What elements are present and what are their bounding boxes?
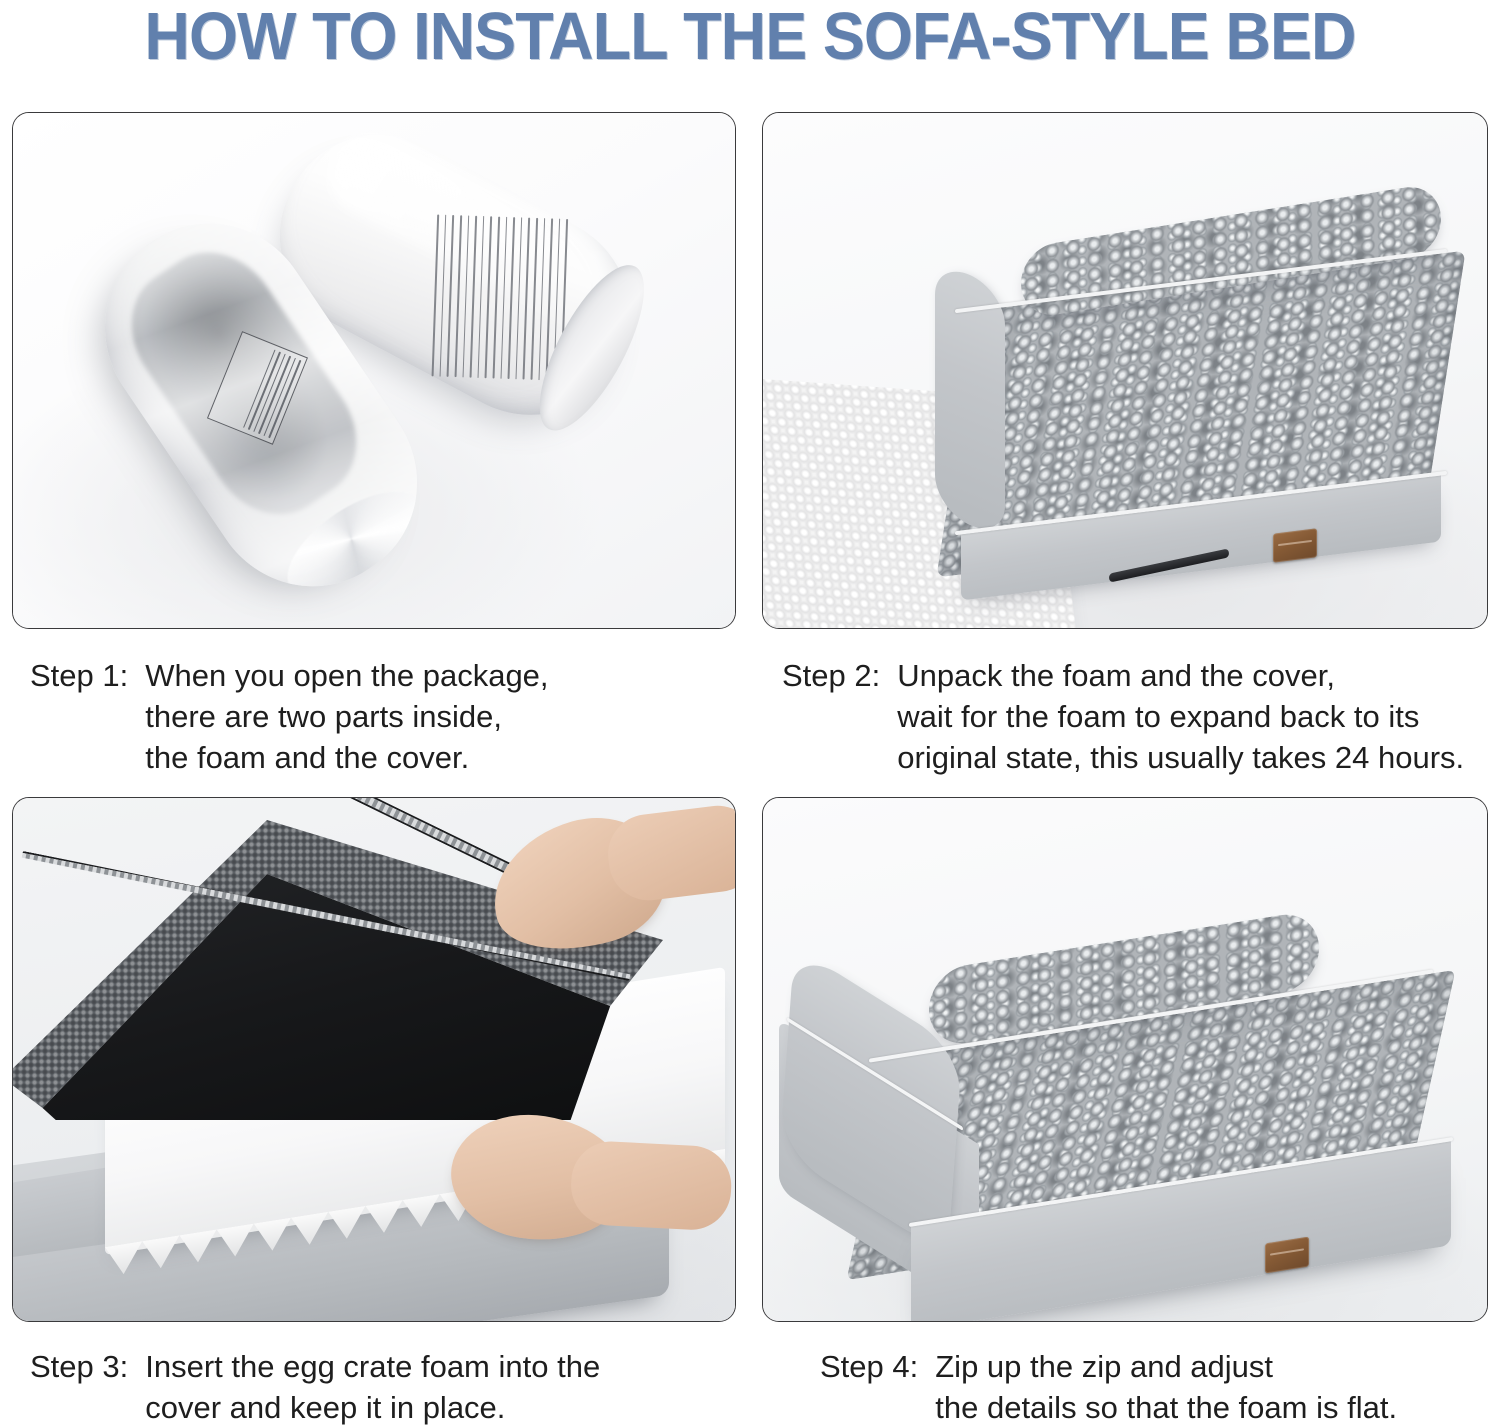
assembled-bed xyxy=(779,922,1469,1302)
step-1-label: Step 1: xyxy=(30,655,128,696)
instruction-sheet: Step 1: When you open the package, there… xyxy=(0,0,1500,1422)
step-3-text: Insert the egg crate foam into the cover… xyxy=(145,1346,600,1428)
leather-brand-tag xyxy=(1273,528,1317,562)
step-2-label: Step 2: xyxy=(782,655,880,696)
warning-print-block xyxy=(426,214,568,381)
step-2-caption: Step 2: Unpack the foam and the cover, w… xyxy=(782,655,1464,779)
photo-packaged-rolls xyxy=(13,113,735,628)
step-3-label: Step 3: xyxy=(30,1346,128,1387)
photo-inserting-foam xyxy=(13,798,735,1321)
bolster-left xyxy=(935,259,1005,540)
step-2-image-panel xyxy=(762,112,1488,629)
step-4-image-panel xyxy=(762,797,1488,1322)
bed-cover xyxy=(933,209,1463,609)
step-2-text: Unpack the foam and the cover, wait for … xyxy=(897,655,1464,779)
forearm xyxy=(569,1140,733,1232)
step-4-label: Step 4: xyxy=(820,1346,918,1387)
step-1-text: When you open the package, there are two… xyxy=(145,655,548,779)
step-1-caption: Step 1: When you open the package, there… xyxy=(30,655,549,779)
step-3-caption: Step 3: Insert the egg crate foam into t… xyxy=(30,1346,600,1428)
step-3-image-panel xyxy=(12,797,736,1322)
step-4-caption: Step 4: Zip up the zip and adjust the de… xyxy=(820,1346,1397,1428)
photo-foam-and-cover xyxy=(763,113,1487,628)
step-1-image-panel xyxy=(12,112,736,629)
photo-finished-bed xyxy=(763,798,1487,1321)
step-4-text: Zip up the zip and adjust the details so… xyxy=(935,1346,1397,1428)
